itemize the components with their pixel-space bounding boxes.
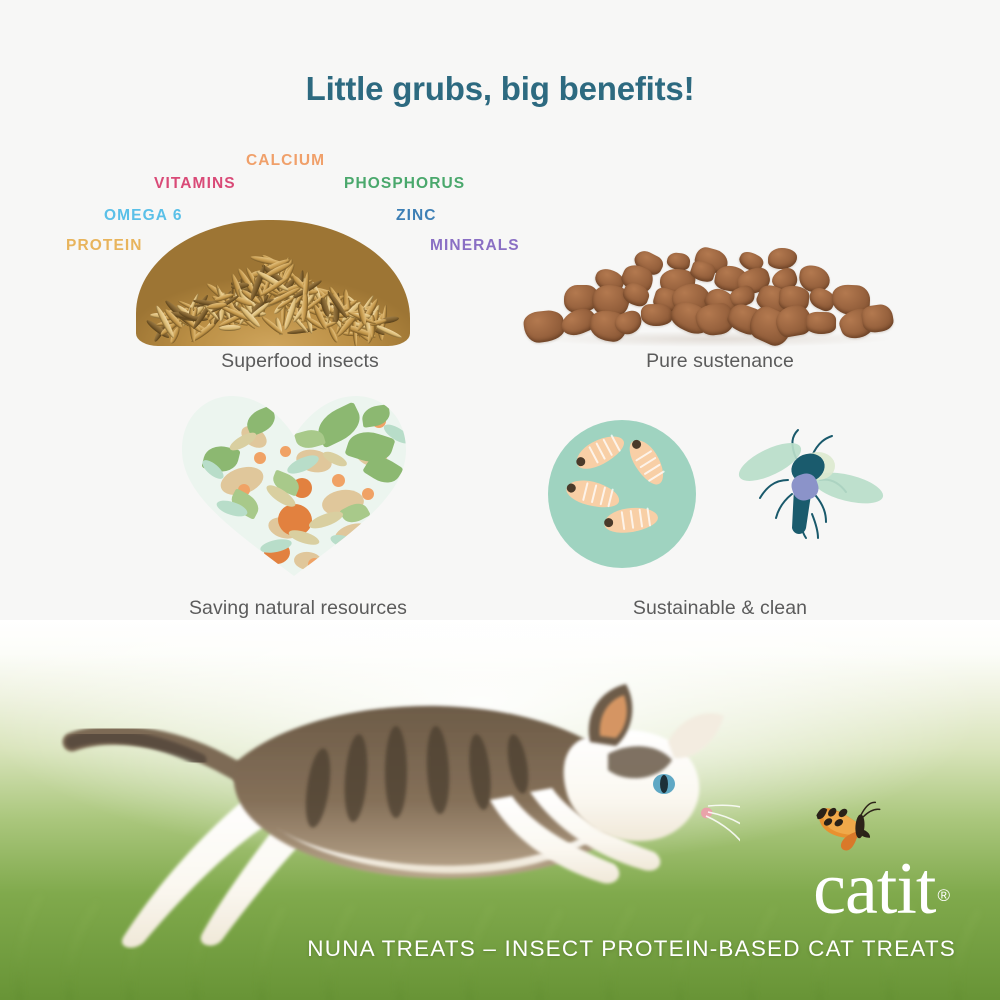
poster-canvas: Little grubs, big benefits! CALCIUMVITAM… — [0, 0, 1000, 1000]
grub-segment — [638, 509, 643, 528]
nutrient-label-phosphorus: PHOSPHORUS — [344, 175, 465, 193]
black-soldier-fly-icon — [732, 422, 884, 544]
grub-segment — [610, 434, 621, 452]
grub-head — [604, 517, 614, 527]
grub-circle-icon — [548, 420, 696, 568]
mealworm — [219, 324, 241, 330]
kibble-piece — [806, 311, 836, 334]
heart-org-item — [308, 558, 321, 571]
grub-segment — [582, 482, 589, 501]
grub-segment — [608, 488, 615, 507]
registered-trademark-icon: ® — [937, 886, 950, 905]
heart-org-item — [332, 474, 345, 487]
caption-saving-natural-resources: Saving natural resources — [98, 597, 498, 620]
heart-org-item — [362, 488, 374, 500]
grub-head — [575, 455, 587, 467]
heart-org-item — [254, 452, 266, 464]
kibble-piece — [767, 247, 797, 269]
grub-2 — [624, 434, 671, 489]
product-tagline: NUNA TREATS – INSECT PROTEIN-BASED CAT T… — [0, 936, 1000, 962]
nutrient-label-vitamins: VITAMINS — [154, 175, 236, 193]
nutrient-label-minerals: MINERALS — [430, 237, 520, 255]
nutrient-label-calcium: CALCIUM — [246, 152, 325, 170]
heart-of-vegetables-icon — [176, 392, 412, 578]
grub-segment — [648, 470, 665, 482]
grub-segment — [647, 507, 652, 526]
heart-contents — [176, 392, 412, 578]
kibble-piece — [641, 304, 672, 326]
kibble-pile-image — [520, 238, 910, 343]
grub-1 — [571, 429, 628, 475]
mealworm-pile-image — [128, 196, 418, 346]
grub-head — [631, 438, 643, 450]
butterfly-icon — [812, 782, 908, 858]
grub-segment — [595, 442, 606, 460]
caption-superfood-insects: Superfood insects — [100, 350, 500, 373]
caption-sustainable-and-clean: Sustainable & clean — [520, 597, 920, 620]
heart-grub-item — [329, 532, 361, 552]
catit-wordmark: catit — [813, 852, 935, 926]
heart-org-item — [328, 562, 340, 574]
grub-segment — [630, 510, 635, 529]
grub-head — [566, 482, 577, 493]
page-title: Little grubs, big benefits! — [0, 70, 1000, 108]
kibble-piece — [860, 303, 895, 334]
brand-logo: catit® — [0, 852, 1000, 926]
heart-org-item — [280, 446, 291, 457]
caption-pure-sustenance: Pure sustenance — [520, 350, 920, 373]
grub-segment — [591, 484, 598, 503]
grub-segment — [588, 446, 599, 464]
grub-segment — [621, 511, 626, 530]
grub-segment — [599, 486, 606, 505]
grub-3 — [564, 476, 622, 512]
grub-segment — [603, 438, 614, 456]
grub-4 — [603, 504, 660, 535]
